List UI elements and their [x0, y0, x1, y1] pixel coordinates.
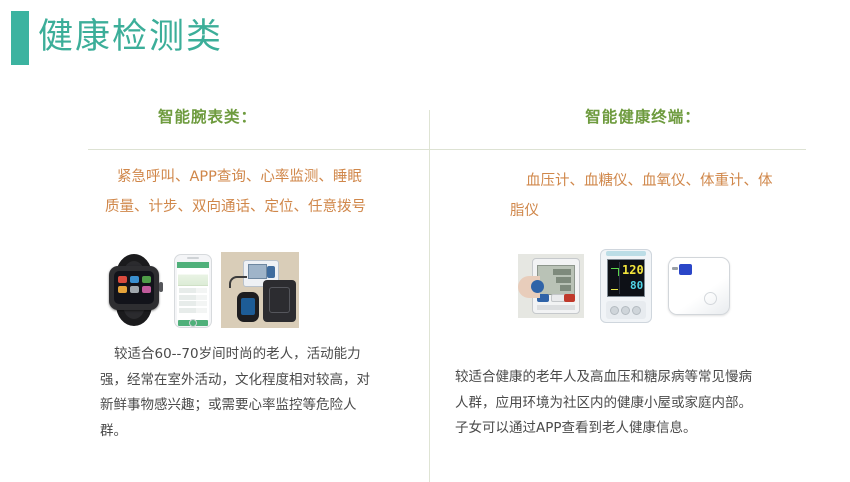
monitor-knob-icon [610, 306, 619, 315]
finger-pressing-button [531, 280, 544, 293]
monitor-screen: 120 80 [607, 259, 645, 297]
left-column-features: 紧急呼叫、APP查询、心率监测、睡眠质量、计步、双向通话、定位、任意拨号 [105, 162, 371, 222]
phone-screen [177, 262, 209, 320]
patient-monitor-image: 120 80 [600, 249, 652, 323]
left-product-images [103, 243, 303, 328]
left-column: 智能腕表类： 紧急呼叫、APP查询、心率监测、睡眠质量、计步、双向通话、定位、任… [0, 88, 429, 482]
blood-pressure-monitor-photo [221, 252, 299, 328]
scale-display [679, 264, 692, 275]
bp-reading-line [556, 277, 571, 283]
app-list-row [179, 308, 207, 313]
right-column-features: 血压计、血糖仪、血氧仪、体重计、体脂仪 [510, 166, 775, 226]
monitor-handle [606, 251, 646, 256]
smart-phone-app-image [174, 254, 212, 328]
paired-smart-watch [237, 292, 259, 322]
page-title: 健康检测类 [38, 8, 223, 66]
watch-screen [114, 271, 154, 304]
bp-reading-line [560, 285, 571, 291]
bp-monitor-button [267, 266, 275, 278]
title-accent-bar [11, 11, 29, 65]
app-top-bar [177, 262, 209, 268]
watch-app-icon [142, 276, 151, 283]
watch-app-icon [118, 276, 127, 283]
monitor-button-panel [606, 301, 646, 319]
scale-platform [668, 257, 730, 315]
app-chart [178, 269, 208, 286]
watch-crown [159, 282, 163, 292]
bp-stop-button [564, 294, 575, 302]
smart-watch-image [103, 252, 165, 328]
scale-sensor-ring [704, 292, 717, 305]
slide-header: 健康检测类 [0, 0, 850, 88]
right-column-heading: 智能健康终端： [430, 105, 850, 127]
right-column: 智能健康终端： 血压计、血糖仪、血氧仪、体重计、体脂仪 [430, 88, 850, 482]
watch-app-icon [130, 276, 139, 283]
app-list-row [179, 295, 207, 300]
right-column-note: 较适合健康的老年人及高血压和糖尿病等常见慢病人群，应用环境为社区内的健康小屋或家… [455, 365, 752, 442]
watch-app-icon [142, 286, 151, 293]
diastolic-value: 80 [630, 280, 643, 291]
blood-pressure-monitor-image [518, 254, 584, 318]
bp-monitor-display [248, 264, 267, 279]
scale-brand-mark [672, 267, 678, 270]
bp-arm-cuff [263, 280, 296, 322]
bp-reading-line [553, 269, 571, 275]
app-list-row [179, 301, 207, 306]
monitor-knob-icon [632, 306, 641, 315]
app-list-row [179, 288, 207, 293]
bp-device-base [537, 305, 575, 310]
phone-home-button [189, 319, 197, 327]
phone-speaker [187, 257, 199, 259]
watch-app-icon [118, 286, 127, 293]
systolic-value: 120 [622, 264, 644, 276]
left-column-note: 较适合60--70岁间时尚的老人，活动能力强，经常在室外活动，文化程度相对较高，… [100, 342, 375, 444]
bp-air-tube [229, 276, 247, 288]
waveform-icon [610, 262, 620, 294]
left-column-heading: 智能腕表类： [0, 105, 429, 127]
body-fat-scale-image [668, 257, 730, 315]
monitor-knob-icon [621, 306, 630, 315]
right-product-images: 120 80 [518, 243, 746, 328]
watch-app-icon [130, 286, 139, 293]
